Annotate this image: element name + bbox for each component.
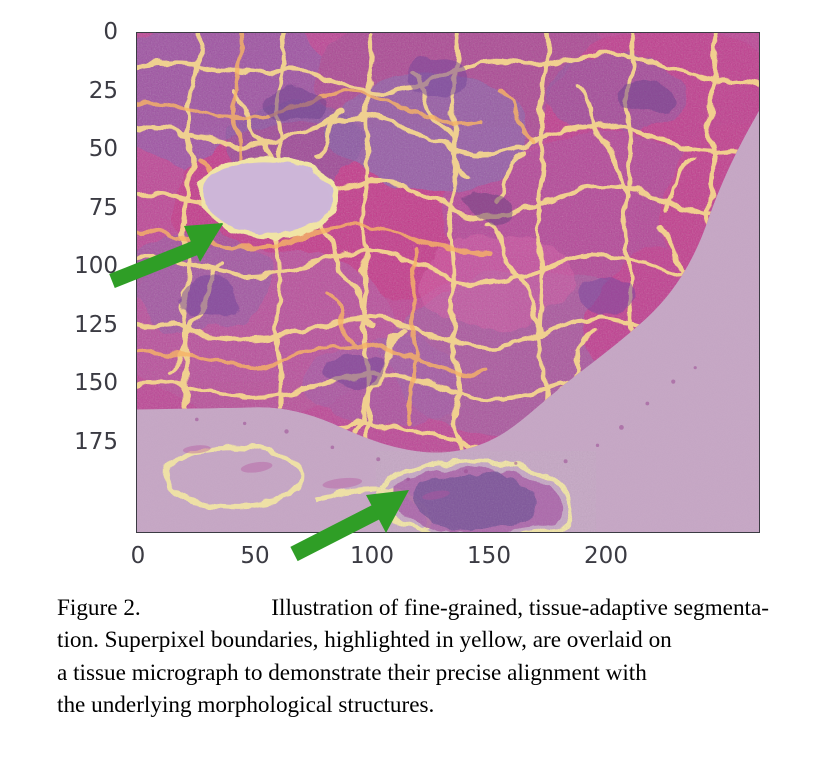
caption-line-1: Figure 2. Illustration of fine-grained, … [57,592,769,624]
caption-line-4: the underlying morphological structures. [57,689,769,721]
caption-line-3: a tissue micrograph to demonstrate their… [57,657,769,689]
figure-2: 0 25 50 75 100 125 150 175 0 50 100 150 … [0,0,821,575]
y-tick-25 [136,92,137,93]
micrograph-svg [137,33,759,532]
y-tick-125 [136,326,137,327]
caption-line-2: tion. Superpixel boundaries, highlighted… [57,624,769,656]
y-ticklabel-0: 0 [48,21,118,44]
y-ticklabel-125: 125 [48,314,118,337]
y-ticklabel-50: 50 [48,138,118,161]
x-tick-0 [139,532,140,533]
tissue-micrograph-image [137,33,759,532]
y-ticklabel-100: 100 [48,255,118,278]
y-tick-100 [136,267,137,268]
x-ticklabel-0: 0 [98,545,178,568]
x-ticklabel-200: 200 [566,545,646,568]
y-ticklabel-25: 25 [48,80,118,103]
x-ticklabel-150: 150 [449,545,529,568]
y-ticklabel-75: 75 [48,197,118,220]
x-tick-200 [607,532,608,533]
x-tick-150 [490,532,491,533]
x-ticklabel-100: 100 [332,545,412,568]
x-tick-50 [256,532,257,533]
caption-figure-label: Figure 2. [57,592,141,624]
plot-axes [136,32,760,533]
y-tick-150 [136,384,137,385]
y-tick-0 [136,33,137,34]
figure-caption: Figure 2. Illustration of fine-grained, … [57,592,769,722]
y-ticklabel-150: 150 [48,372,118,395]
x-tick-100 [373,532,374,533]
y-tick-50 [136,150,137,151]
y-tick-175 [136,443,137,444]
x-ticklabel-50: 50 [215,545,295,568]
y-tick-75 [136,209,137,210]
y-ticklabel-175: 175 [48,431,118,454]
caption-line-1-text: Illustration of fine-grained, tissue-ada… [271,592,769,624]
